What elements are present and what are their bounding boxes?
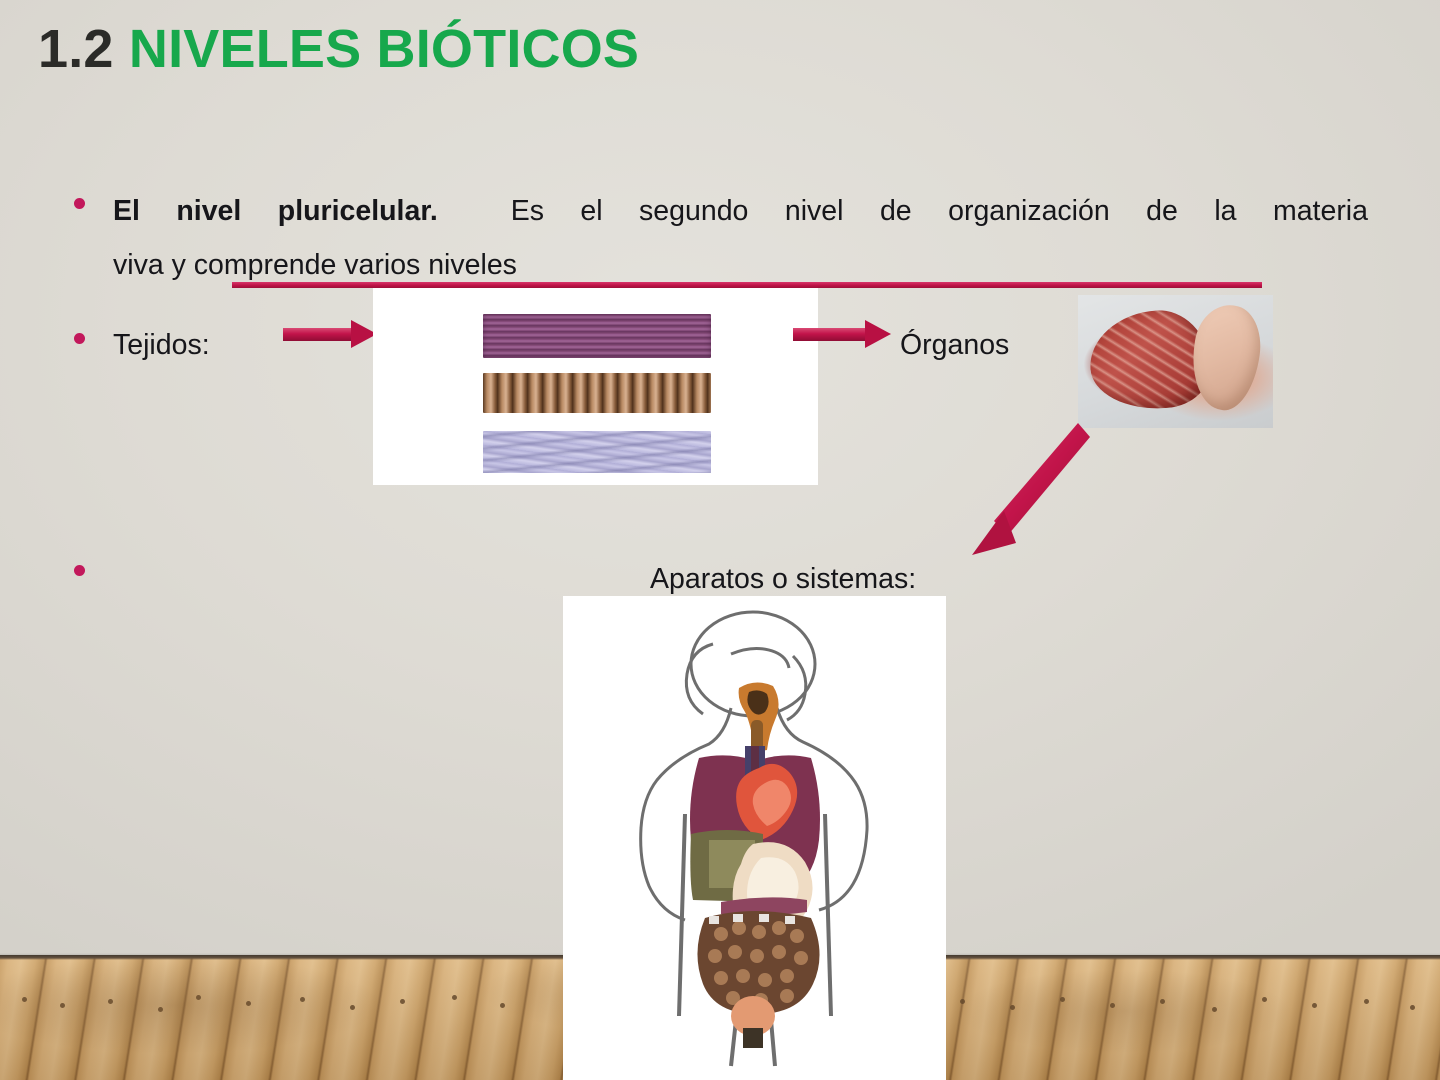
cardiac-muscle-tissue-icon xyxy=(483,373,711,413)
organ-image xyxy=(1078,295,1273,428)
title-text: NIVELES BIÓTICOS xyxy=(129,19,639,79)
arrow-diagonal-down-left-icon xyxy=(960,415,1140,575)
page-title: 1.2 NIVELES BIÓTICOS xyxy=(38,18,639,80)
skeletal-muscle-tissue-icon xyxy=(483,314,711,358)
smooth-muscle-tissue-icon xyxy=(483,431,711,473)
body-systems-image xyxy=(563,596,946,1080)
human-body-organ-systems-diagram xyxy=(563,596,946,1080)
bullet-marker-1 xyxy=(74,198,85,209)
arrow-tejidos-to-tissues xyxy=(283,320,378,348)
paragraph-rest: Es el segundo nivel de organización de l… xyxy=(511,195,1368,227)
label-tejidos: Tejidos: xyxy=(113,318,210,372)
arrow-organo-to-sistemas xyxy=(960,415,1140,575)
tissues-image xyxy=(373,288,818,485)
title-number: 1.2 xyxy=(38,19,114,79)
bullet-marker-3 xyxy=(74,565,85,576)
presentation-slide: 1.2 NIVELES BIÓTICOS El nivel pluricelul… xyxy=(0,0,1440,1080)
arrow-tissues-to-organos xyxy=(793,320,893,348)
paragraph-lead-bold: El nivel pluricelular. xyxy=(113,195,438,227)
muscle-organ-photo xyxy=(1078,295,1273,428)
label-organos: Órganos xyxy=(900,318,1009,372)
paragraph-pluricelular: El nivel pluricelular. Es el segundo niv… xyxy=(113,184,1368,292)
bullet-marker-2 xyxy=(74,333,85,344)
